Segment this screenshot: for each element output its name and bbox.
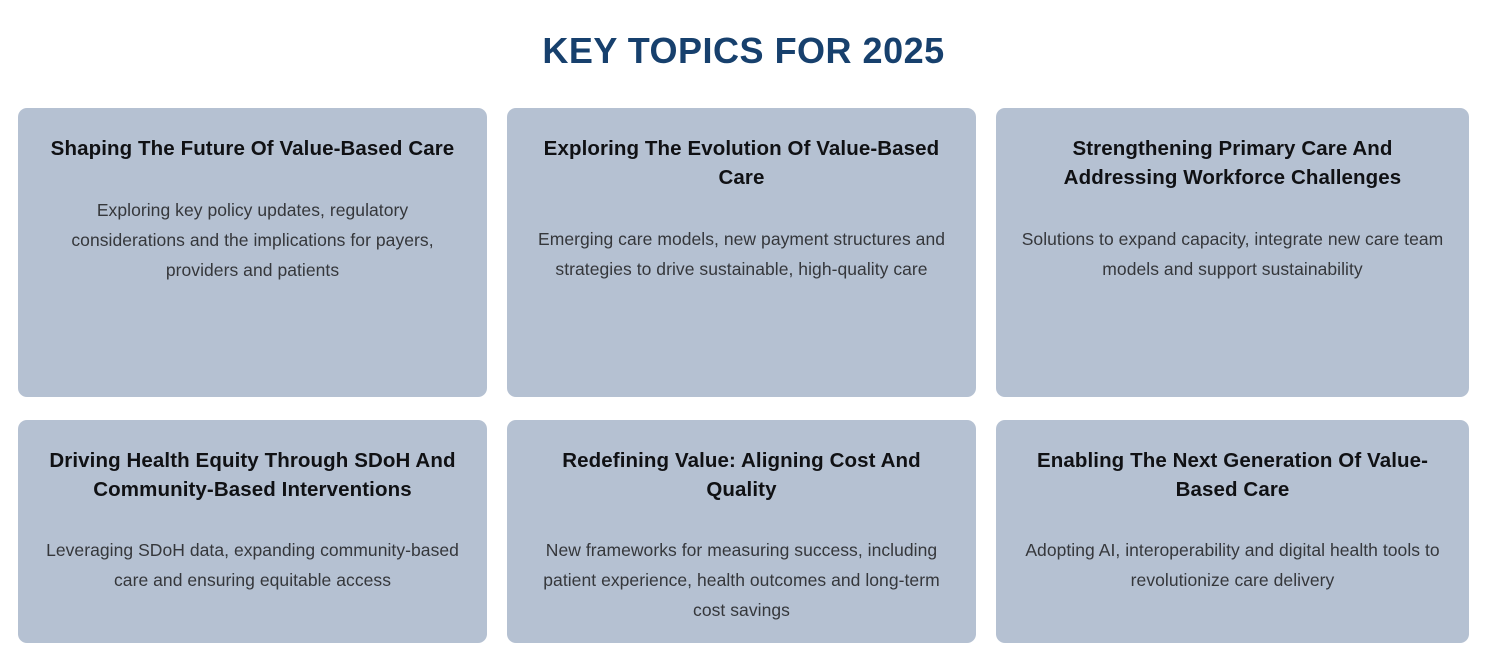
topic-card-heading: Exploring The Evolution Of Value-Based C…: [529, 134, 954, 192]
topic-card-body: New frameworks for measuring success, in…: [529, 536, 954, 626]
topic-card-3[interactable]: Strengthening Primary Care And Addressin…: [996, 108, 1469, 397]
topic-card-heading: Shaping The Future Of Value-Based Care: [51, 134, 455, 163]
topic-card-body: Leveraging SDoH data, expanding communit…: [40, 536, 465, 596]
topic-card-heading: Strengthening Primary Care And Addressin…: [1018, 134, 1447, 192]
topic-card-body: Exploring key policy updates, regulatory…: [40, 196, 465, 286]
topic-card-heading: Driving Health Equity Through SDoH And C…: [40, 446, 465, 504]
topic-card-body: Solutions to expand capacity, integrate …: [1018, 225, 1447, 285]
topic-card-body: Adopting AI, interoperability and digita…: [1018, 536, 1447, 596]
topic-card-heading: Redefining Value: Aligning Cost And Qual…: [529, 446, 954, 504]
topic-card-1[interactable]: Shaping The Future Of Value-Based Care E…: [18, 108, 487, 397]
topic-card-body: Emerging care models, new payment struct…: [529, 225, 954, 285]
page-title: KEY TOPICS FOR 2025: [0, 0, 1487, 71]
topic-card-grid: Shaping The Future Of Value-Based Care E…: [18, 108, 1469, 643]
topic-card-2[interactable]: Exploring The Evolution Of Value-Based C…: [507, 108, 976, 397]
topic-card-4[interactable]: Driving Health Equity Through SDoH And C…: [18, 420, 487, 643]
slide-root: KEY TOPICS FOR 2025 Shaping The Future O…: [0, 0, 1487, 657]
topic-card-6[interactable]: Enabling The Next Generation Of Value-Ba…: [996, 420, 1469, 643]
topic-card-heading: Enabling The Next Generation Of Value-Ba…: [1018, 446, 1447, 504]
topic-card-5[interactable]: Redefining Value: Aligning Cost And Qual…: [507, 420, 976, 643]
